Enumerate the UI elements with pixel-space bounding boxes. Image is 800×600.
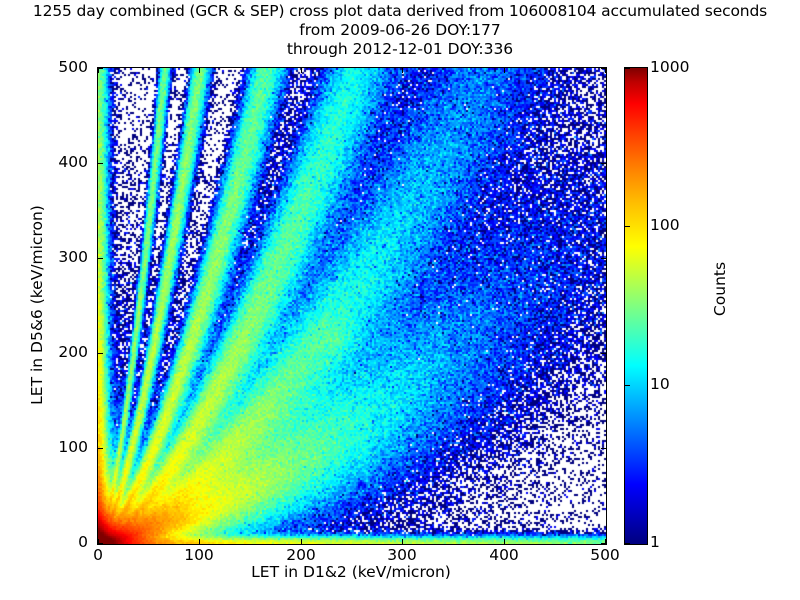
chart-title: 1255 day combined (GCR & SEP) cross plot… [0, 2, 800, 59]
cbticklabel-10: 10 [650, 375, 670, 393]
xticklabel-300: 300 [362, 546, 442, 564]
ytick-right-0 [601, 543, 606, 544]
density-plot-canvas [98, 68, 606, 544]
yticklabel-100: 100 [8, 438, 88, 456]
xtick-top-400 [504, 68, 505, 73]
yticklabel-400: 400 [8, 153, 88, 171]
ytick-right-400 [601, 163, 606, 164]
ytick-100 [98, 448, 103, 449]
xticklabel-100: 100 [159, 546, 239, 564]
xtick-300 [402, 539, 403, 544]
yticklabel-200: 200 [8, 343, 88, 361]
ytick-300 [98, 258, 103, 259]
ytick-0 [98, 543, 103, 544]
ytick-right-200 [601, 353, 606, 354]
chart-title-line-1: 1255 day combined (GCR & SEP) cross plot… [0, 2, 800, 21]
ytick-200 [98, 353, 103, 354]
cbticklabel-1: 1 [650, 533, 660, 551]
cbticklabel-100: 100 [650, 216, 680, 234]
xtick-top-200 [301, 68, 302, 73]
cbtick-1000 [625, 68, 630, 69]
colorbar-label: Counts [711, 209, 729, 369]
chart-title-line-3: through 2012-12-01 DOY:336 [0, 40, 800, 59]
yticklabel-500: 500 [8, 58, 88, 76]
xtick-200 [301, 539, 302, 544]
cbtick-100 [625, 226, 630, 227]
cbticklabel-1000: 1000 [650, 58, 689, 76]
x-axis-label: LET in D1&2 (keV/micron) [97, 563, 605, 581]
cbtick-10 [625, 385, 630, 386]
xticklabel-200: 200 [261, 546, 341, 564]
ytick-500 [98, 68, 103, 69]
cbtick-1 [625, 543, 630, 544]
yticklabel-300: 300 [8, 248, 88, 266]
xticklabel-400: 400 [464, 546, 544, 564]
xtick-100 [199, 539, 200, 544]
ytick-400 [98, 163, 103, 164]
xtick-top-300 [402, 68, 403, 73]
figure: 1255 day combined (GCR & SEP) cross plot… [0, 0, 800, 600]
ytick-right-100 [601, 448, 606, 449]
ytick-right-300 [601, 258, 606, 259]
colorbar [624, 67, 648, 545]
xticklabel-500: 500 [565, 546, 645, 564]
ytick-right-500 [601, 68, 606, 69]
xtick-400 [504, 539, 505, 544]
yticklabel-0: 0 [8, 533, 88, 551]
plot-area [97, 67, 607, 545]
y-axis-label: LET in D5&6 (keV/micron) [28, 67, 46, 543]
xtick-top-100 [199, 68, 200, 73]
chart-title-line-2: from 2009-06-26 DOY:177 [0, 21, 800, 40]
